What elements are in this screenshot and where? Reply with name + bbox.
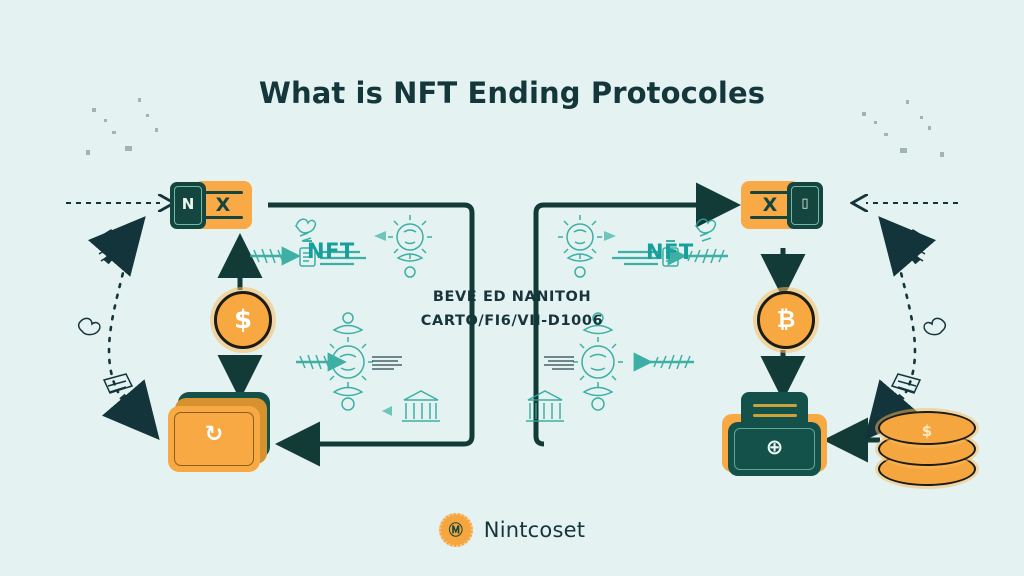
infographic-canvas: What is NFT Ending Protocoles X N X ▯ $ … — [0, 0, 1024, 576]
caption-line-2: CARTO/FI6/VII-D1006 — [0, 313, 1024, 329]
tile-bar-bottom — [203, 216, 243, 219]
scribble-text-l — [372, 357, 402, 369]
tile-bar-bottom — [750, 216, 790, 219]
feather-arrow-r2 — [648, 355, 694, 369]
bank-doodle-l — [382, 391, 440, 421]
marketplace-card-right[interactable]: X ▯ — [741, 181, 823, 229]
hand-doodle-l — [296, 219, 315, 241]
vault-front-panel: ⊕ — [728, 422, 821, 476]
brand-coin-icon: Ⓜ — [439, 513, 473, 547]
brand-footer: Ⓜ Nintcoset — [0, 513, 1024, 547]
feather-arrow-l2 — [296, 355, 342, 369]
stack-card-front: ↻ — [168, 406, 260, 472]
brand-name: Nintcoset — [484, 518, 585, 542]
nft-card-left: N — [170, 182, 206, 229]
stacked-wallet-cards[interactable]: ↻ — [168, 392, 270, 474]
lid-bar-top — [753, 404, 797, 407]
recycle-icon: ↻ — [168, 422, 260, 447]
nft-card-right-glyph: ▯ — [787, 196, 823, 211]
page-title: What is NFT Ending Protocoles — [0, 76, 1024, 110]
burst-icon-r — [558, 215, 616, 277]
nft-card-left-glyph: N — [170, 195, 206, 213]
coin-stack-glyph: $ — [880, 422, 974, 440]
nft-card-right: ▯ — [787, 182, 823, 229]
bank-doodle-r — [526, 391, 564, 421]
vault-box[interactable]: ⊕ — [722, 392, 827, 476]
coin-stack: $ — [872, 408, 980, 486]
nft-label-right: NFT — [646, 240, 694, 264]
nft-label-left: NFT — [307, 239, 355, 263]
scribble-text-r — [544, 357, 574, 369]
hand-doodle-r — [696, 219, 715, 241]
vault-glyph: ⊕ — [728, 435, 821, 459]
marketplace-card-left[interactable]: X N — [170, 181, 252, 229]
caption-line-1: BEVE ED NANITOH — [0, 289, 1024, 305]
burst-icon-l — [374, 215, 432, 277]
center-caption: BEVE ED NANITOH CARTO/FI6/VII-D1006 — [0, 289, 1024, 329]
lid-bar-bottom — [753, 414, 797, 417]
feather-arrow-l1 — [250, 249, 296, 263]
vault-lid — [741, 392, 808, 426]
coin-stack-top: $ — [878, 411, 976, 445]
